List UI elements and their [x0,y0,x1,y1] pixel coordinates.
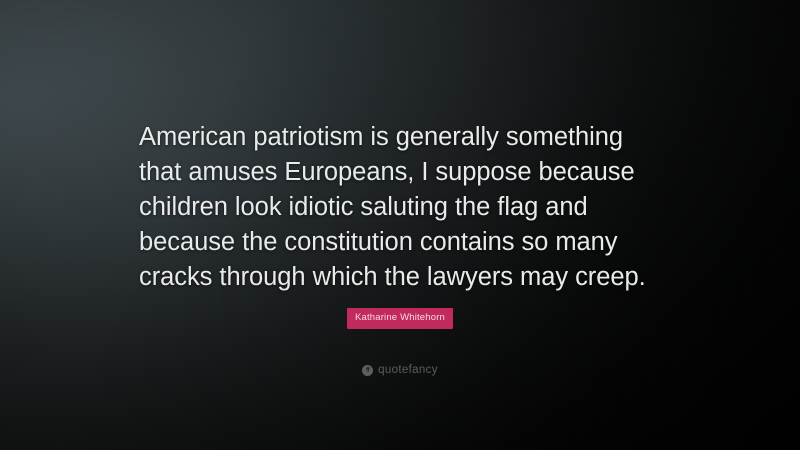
quote-line: cracks through which the lawyers may cre… [139,260,671,295]
content-layer: American patriotism is generally somethi… [0,0,800,450]
author-name-badge[interactable]: Katharine Whitehorn [347,308,453,329]
quotefancy-watermark[interactable]: ff quotefancy [0,365,800,377]
quote-text-block: American patriotism is generally somethi… [139,120,671,295]
quotefancy-logo-icon: ff [362,365,373,376]
author-attribution: Katharine Whitehorn [0,307,800,329]
quote-image-canvas: American patriotism is generally somethi… [0,0,800,450]
quote-line: that amuses Europeans, I suppose because [139,155,671,190]
quotefancy-brand-label: quotefancy [378,365,438,377]
quote-line: because the constitution contains so man… [139,225,671,260]
quote-line: children look idiotic saluting the flag … [139,190,671,225]
quote-line: American patriotism is generally somethi… [139,120,671,155]
quotefancy-logo-glyph: ff [366,367,369,373]
